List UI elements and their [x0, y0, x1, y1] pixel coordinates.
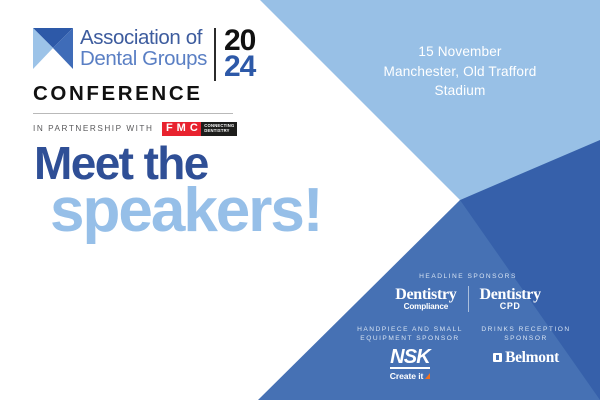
event-details: 15 November Manchester, Old Trafford Sta… — [352, 42, 568, 101]
handpiece-sponsor-label-line2: EQUIPMENT SPONSOR — [352, 334, 468, 343]
event-location-line2: Stadium — [352, 81, 568, 101]
nsk-tagline: Create it — [390, 371, 424, 381]
fmc-letter-c: C — [188, 123, 199, 134]
sponsor-logo-dentistry-cpd: Dentistry CPD — [469, 287, 552, 311]
drinks-sponsor-col: DRINKS RECEPTION SPONSOR Belmont — [468, 325, 584, 381]
fmc-logo: F M C CONNECTING DENTISTRY — [162, 122, 237, 136]
logo-top-row: Association of Dental Groups 20 24 — [33, 28, 251, 81]
sponsor-logo-nsk: NSK Create it — [352, 347, 468, 381]
headline-sponsors-row: Dentistry Compliance Dentistry CPD — [352, 286, 584, 312]
fmc-tagline: CONNECTING DENTISTRY — [201, 122, 237, 136]
drinks-sponsor-label: DRINKS RECEPTION SPONSOR — [468, 325, 584, 343]
headline-sponsors-label: HEADLINE SPONSORS — [352, 272, 584, 281]
handpiece-sponsor-label-line1: HANDPIECE AND SMALL — [352, 325, 468, 334]
headline-block: Meet the speakers! — [34, 140, 322, 240]
logo-conference-word: CONFERENCE — [33, 83, 251, 104]
logo-year-bottom: 24 — [224, 54, 255, 80]
adg-conference-logo: Association of Dental Groups 20 24 CONFE… — [33, 28, 251, 136]
fmc-letter-f: F — [164, 123, 174, 134]
nsk-tagline-row: Create it — [390, 371, 431, 381]
nsk-triangle-icon — [425, 373, 430, 379]
adg-triangle-mark-icon — [33, 28, 73, 69]
nsk-wordmark: NSK — [390, 347, 430, 369]
dentistry-cpd-word: Dentistry — [480, 287, 541, 302]
fmc-tagline-line2: DENTISTRY — [204, 129, 234, 134]
dentistry-cpd-sub: CPD — [480, 302, 541, 311]
poster-canvas: Association of Dental Groups 20 24 CONFE… — [0, 0, 600, 400]
headline-line2: speakers! — [50, 182, 322, 240]
handpiece-sponsor-col: HANDPIECE AND SMALL EQUIPMENT SPONSOR NS… — [352, 325, 468, 381]
logo-association-line1: Association of — [80, 28, 207, 48]
dentistry-compliance-word: Dentistry — [395, 287, 456, 302]
logo-wordmark: Association of Dental Groups — [80, 28, 207, 69]
partnership-row: IN PARTNERSHIP WITH F M C CONNECTING DEN… — [33, 122, 251, 136]
sponsor-logo-belmont: Belmont — [468, 350, 584, 365]
fmc-letters: F M C — [162, 122, 201, 136]
event-location: Manchester, Old Trafford — [352, 62, 568, 82]
belmont-square-icon — [493, 353, 502, 362]
sponsor-logo-dentistry-compliance: Dentistry Compliance — [384, 287, 467, 311]
belmont-wordmark: Belmont — [505, 350, 559, 365]
event-date: 15 November — [352, 42, 568, 62]
fmc-letter-m: M — [175, 123, 187, 134]
logo-association-line2: Dental Groups — [80, 49, 207, 69]
partnership-label: IN PARTNERSHIP WITH — [33, 124, 153, 133]
lower-sponsors-row: HANDPIECE AND SMALL EQUIPMENT SPONSOR NS… — [352, 325, 584, 381]
sponsors-block: HEADLINE SPONSORS Dentistry Compliance D… — [352, 272, 584, 381]
logo-year: 20 24 — [214, 28, 255, 81]
drinks-sponsor-label-line1: DRINKS RECEPTION — [468, 325, 584, 334]
logo-divider-rule — [33, 113, 233, 114]
handpiece-sponsor-label: HANDPIECE AND SMALL EQUIPMENT SPONSOR — [352, 325, 468, 343]
drinks-sponsor-label-line2: SPONSOR — [468, 334, 584, 343]
dentistry-compliance-sub: Compliance — [395, 302, 456, 311]
